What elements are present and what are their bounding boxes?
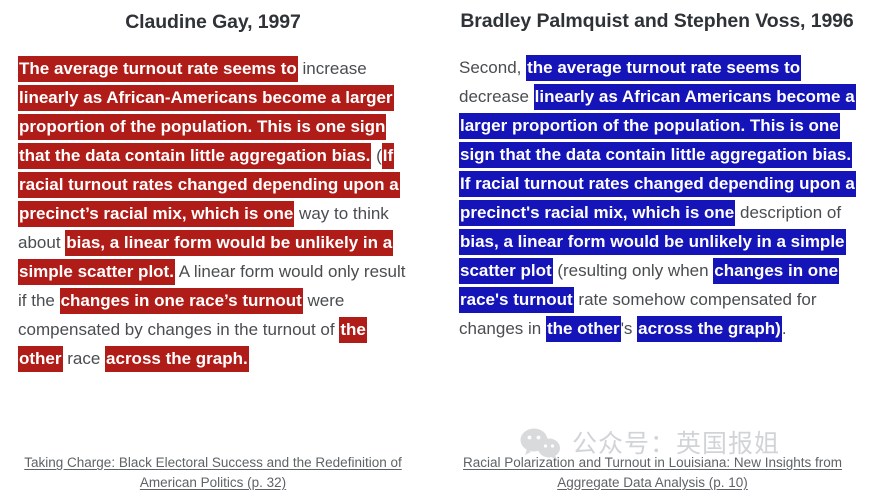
plain-run: . bbox=[782, 319, 787, 338]
plain-run: decrease bbox=[459, 87, 534, 106]
panel-claudine-gay: Claudine Gay, 1997 The average turnout r… bbox=[0, 0, 426, 499]
highlight-run: linearly as African-Americans become a l… bbox=[18, 85, 394, 169]
highlight-run: the other bbox=[546, 316, 621, 342]
plain-run: increase bbox=[298, 59, 367, 78]
plain-run: description of bbox=[735, 203, 841, 222]
comparison-panels: Claudine Gay, 1997 The average turnout r… bbox=[0, 0, 879, 499]
highlight-run: the average turnout rate seems to bbox=[526, 55, 801, 81]
panel-right-source-citation[interactable]: Racial Polarization and Turnout in Louis… bbox=[426, 453, 879, 493]
highlight-run: across the graph. bbox=[105, 346, 249, 372]
plain-run: (resulting only when bbox=[553, 261, 714, 280]
highlight-run: The average turnout rate seems to bbox=[18, 56, 298, 82]
panel-left-quote: The average turnout rate seems to increa… bbox=[18, 54, 408, 373]
panel-right-quote: Second, the average turnout rate seems t… bbox=[459, 53, 855, 343]
panel-left-title: Claudine Gay, 1997 bbox=[18, 0, 408, 35]
plain-run: Second, bbox=[459, 58, 526, 77]
plain-run: ( bbox=[371, 146, 381, 165]
highlight-run: across the graph) bbox=[637, 316, 782, 342]
panel-palmquist-voss: Bradley Palmquist and Stephen Voss, 1996… bbox=[426, 0, 879, 499]
plain-run: race bbox=[63, 349, 106, 368]
highlight-run: changes in one race’s turnout bbox=[60, 288, 303, 314]
panel-right-title: Bradley Palmquist and Stephen Voss, 1996 bbox=[459, 0, 855, 34]
plain-run: 's bbox=[621, 319, 637, 338]
panel-left-source-citation[interactable]: Taking Charge: Black Electoral Success a… bbox=[0, 453, 426, 493]
